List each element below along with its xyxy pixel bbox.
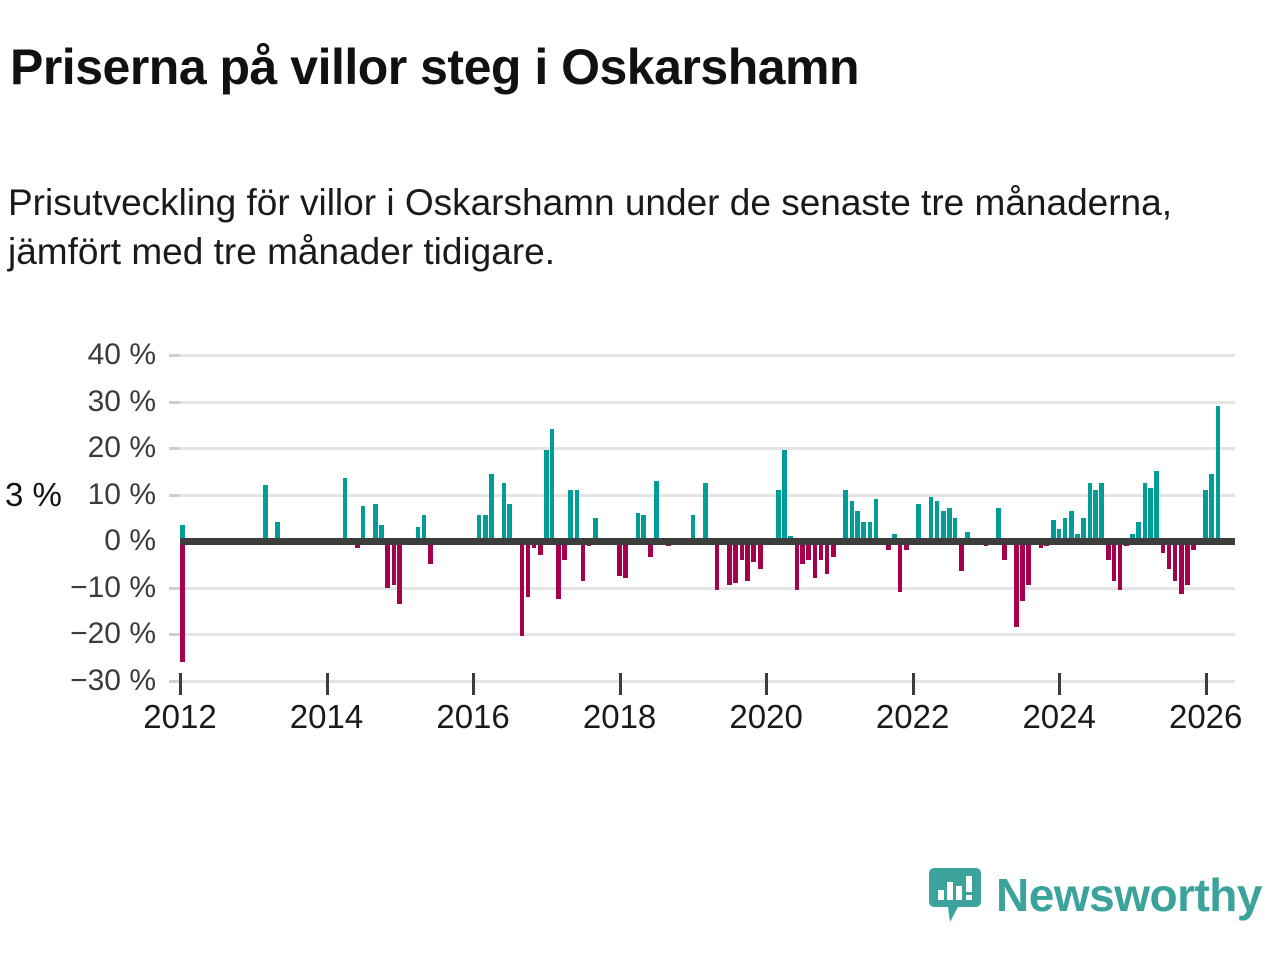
bar-chart-speech-bubble-icon xyxy=(928,866,982,924)
bar xyxy=(636,513,641,541)
bar xyxy=(520,541,525,636)
x-axis-label: 2026 xyxy=(1169,698,1242,736)
bar xyxy=(1154,471,1159,541)
bar xyxy=(1179,541,1184,594)
bar xyxy=(556,541,561,599)
y-axis-label: 0 % xyxy=(104,524,156,558)
x-axis-tick xyxy=(912,673,915,695)
y-axis-label: 10 % xyxy=(88,478,156,512)
bar xyxy=(959,541,964,571)
last-value-annotation: 3 % xyxy=(0,475,67,515)
bar xyxy=(544,450,549,541)
bar xyxy=(715,541,720,590)
bar xyxy=(1088,483,1093,541)
brand-name: Newsworthy xyxy=(996,868,1262,922)
x-axis-tick xyxy=(472,673,475,695)
bar xyxy=(850,501,855,541)
x-axis-tick xyxy=(765,673,768,695)
bar xyxy=(397,541,402,604)
y-axis-label: 40 % xyxy=(88,338,156,372)
gridline xyxy=(180,587,1235,590)
newsworthy-logo: Newsworthy xyxy=(928,866,1262,924)
bar xyxy=(1026,541,1031,585)
bar xyxy=(1069,511,1074,541)
bar xyxy=(1014,541,1019,627)
bar xyxy=(929,497,934,541)
bar xyxy=(733,541,738,583)
y-axis-label: −20 % xyxy=(70,617,156,651)
bar xyxy=(1185,541,1190,585)
bar xyxy=(1148,488,1153,541)
bar xyxy=(180,541,185,571)
y-axis-tick xyxy=(169,447,180,450)
gridline xyxy=(180,447,1235,450)
x-axis-tick xyxy=(326,673,329,695)
bar xyxy=(745,541,750,581)
y-axis-label: −10 % xyxy=(70,571,156,605)
bar xyxy=(727,541,732,585)
bar xyxy=(507,504,512,541)
chart-subtitle: Prisutveckling för villor i Oskarshamn u… xyxy=(8,178,1238,276)
bar xyxy=(343,478,348,541)
y-axis-label: 20 % xyxy=(88,431,156,465)
gridline xyxy=(180,633,1235,636)
bar xyxy=(392,541,397,585)
bar xyxy=(568,490,573,541)
x-axis-label: 2016 xyxy=(436,698,509,736)
bar xyxy=(1093,490,1098,541)
bar xyxy=(1203,490,1208,541)
gridline xyxy=(180,401,1235,404)
bar xyxy=(1099,483,1104,541)
bar xyxy=(941,511,946,541)
bar xyxy=(825,541,830,574)
bar xyxy=(1112,541,1117,581)
bar xyxy=(916,504,921,541)
page-title: Priserna på villor steg i Oskarshamn xyxy=(10,38,859,96)
bar xyxy=(617,541,622,576)
x-axis-label: 2012 xyxy=(143,698,216,736)
bar xyxy=(489,474,494,541)
bar xyxy=(935,501,940,541)
zero-line xyxy=(180,538,1235,545)
bar xyxy=(843,490,848,541)
bar xyxy=(385,541,390,588)
x-axis-tick xyxy=(1058,673,1061,695)
y-axis-tick xyxy=(169,354,180,357)
chart-area: 40 %30 %20 %10 %0 %−10 %−20 %−30 % 20122… xyxy=(0,330,1280,750)
bar xyxy=(575,490,580,541)
x-axis-tick xyxy=(179,673,182,695)
bar xyxy=(898,541,903,592)
bar xyxy=(526,541,531,597)
gridline xyxy=(180,354,1235,357)
bar xyxy=(1216,406,1221,541)
y-axis-tick xyxy=(169,401,180,404)
bar xyxy=(502,483,507,541)
x-axis-label: 2024 xyxy=(1022,698,1095,736)
bar xyxy=(654,481,659,541)
bar xyxy=(1167,541,1172,569)
bar xyxy=(361,506,366,541)
bar xyxy=(373,504,378,541)
bar xyxy=(947,508,952,541)
bar xyxy=(782,450,787,541)
bar xyxy=(758,541,763,569)
bar xyxy=(703,483,708,541)
x-axis-label: 2022 xyxy=(876,698,949,736)
bar xyxy=(795,541,800,590)
y-axis-tick xyxy=(169,633,180,636)
bar xyxy=(1173,541,1178,581)
x-axis-label: 2018 xyxy=(583,698,656,736)
y-axis-tick xyxy=(169,494,180,497)
bar xyxy=(855,511,860,541)
gridline xyxy=(180,680,1235,683)
x-axis-label: 2014 xyxy=(290,698,363,736)
bar xyxy=(874,499,879,541)
x-axis-label: 2020 xyxy=(729,698,802,736)
x-axis-tick xyxy=(619,673,622,695)
bar xyxy=(1118,541,1123,590)
bar xyxy=(1020,541,1025,601)
bar xyxy=(813,541,818,578)
bar xyxy=(623,541,628,578)
bar xyxy=(550,429,555,541)
bar xyxy=(776,490,781,541)
x-axis-tick xyxy=(1205,673,1208,695)
y-axis-label: −30 % xyxy=(70,664,156,698)
bar xyxy=(581,541,586,581)
bar xyxy=(263,485,268,541)
bar xyxy=(1209,474,1214,541)
y-axis-label: 30 % xyxy=(88,385,156,419)
bar xyxy=(996,508,1001,541)
bar xyxy=(1143,483,1148,541)
y-axis-tick xyxy=(169,587,180,590)
